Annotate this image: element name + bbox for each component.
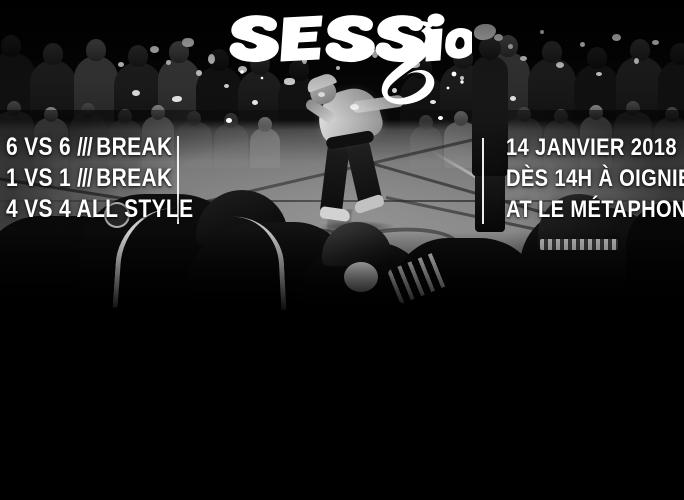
event-time-city: DÈS 14H À OIGNIES — [506, 163, 684, 194]
category-style: BREAK — [96, 133, 172, 161]
event-date: 14 JANVIER 2018 — [506, 132, 684, 163]
spectator-shoulder-highlight — [344, 262, 378, 292]
battle-categories: 6 VS 6///BREAK 1 VS 1///BREAK 4 VS 4 ALL… — [6, 132, 229, 225]
category-format: 1 VS 1 — [6, 164, 71, 192]
beanie-pattern-band — [540, 239, 618, 250]
event-details: 14 JANVIER 2018 DÈS 14H À OIGNIES AT LE … — [506, 132, 684, 225]
category-line: 6 VS 6///BREAK — [6, 132, 193, 163]
category-line: 1 VS 1///BREAK — [6, 163, 193, 194]
category-separator: /// — [71, 133, 96, 161]
category-separator: /// — [71, 164, 96, 192]
divider-right — [482, 138, 484, 224]
category-style: BREAK — [96, 164, 172, 192]
spectator-head — [322, 222, 392, 266]
event-poster: 6 VS 6///BREAK 1 VS 1///BREAK 4 VS 4 ALL… — [0, 0, 684, 500]
event-venue: AT LE MÉTAPHONE — [506, 194, 684, 225]
category-format: 6 VS 6 — [6, 133, 71, 161]
category-line: 4 VS 4 ALL STYLE — [6, 194, 193, 225]
session-logo — [222, 2, 472, 106]
black-footer-panel — [0, 312, 684, 500]
category-format: 4 VS 4 ALL STYLE — [6, 195, 193, 223]
